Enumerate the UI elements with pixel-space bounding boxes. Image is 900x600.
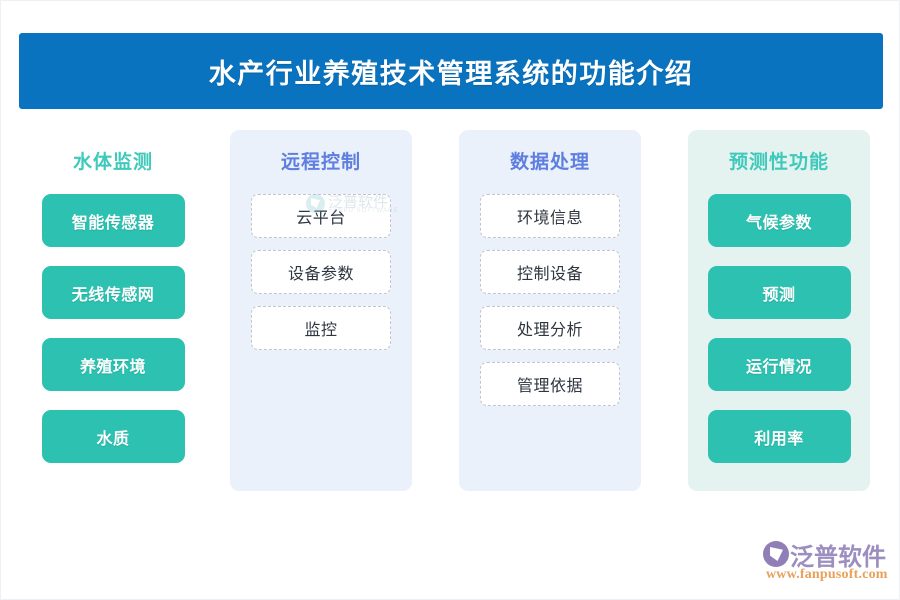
column-heading-remote-control: 远程控制: [230, 147, 412, 174]
card-label: 运行情况: [746, 353, 812, 377]
card-label: 无线传感网: [72, 281, 155, 305]
card-wireless-sensor-network[interactable]: 无线传感网: [42, 266, 185, 319]
card-cloud-platform[interactable]: 云平台: [251, 194, 391, 238]
card-label: 控制设备: [517, 260, 583, 284]
fanpu-logo-icon: [763, 541, 789, 567]
card-device-parameters[interactable]: 设备参数: [251, 250, 391, 294]
column-water-monitoring: 水体监测 智能传感器 无线传感网 养殖环境 水质: [22, 130, 204, 491]
card-intelligent-sensor[interactable]: 智能传感器: [42, 194, 185, 247]
page-root: 水产行业养殖技术管理系统的功能介绍 水体监测 智能传感器 无线传感网 养殖环境 …: [0, 0, 900, 600]
brand-logo: 泛普软件 www.fanpusoft.com: [763, 539, 891, 587]
card-environment-info[interactable]: 环境信息: [480, 194, 620, 238]
card-stack-remote-control: 云平台 设备参数 监控: [230, 194, 412, 362]
card-processing-analysis[interactable]: 处理分析: [480, 306, 620, 350]
card-monitoring[interactable]: 监控: [251, 306, 391, 350]
card-label: 设备参数: [288, 260, 354, 284]
card-label: 云平台: [296, 204, 346, 228]
card-label: 智能传感器: [72, 209, 155, 233]
card-label: 水质: [96, 425, 129, 449]
card-aquaculture-environment[interactable]: 养殖环境: [42, 338, 185, 391]
card-control-equipment[interactable]: 控制设备: [480, 250, 620, 294]
card-utilization-rate[interactable]: 利用率: [708, 410, 851, 463]
page-title-banner: 水产行业养殖技术管理系统的功能介绍: [19, 33, 883, 109]
column-heading-water-monitoring: 水体监测: [22, 147, 204, 174]
card-label: 预测: [762, 281, 795, 305]
card-label: 气候参数: [746, 209, 812, 233]
card-forecast[interactable]: 预测: [708, 266, 851, 319]
column-heading-data-processing: 数据处理: [459, 147, 641, 174]
column-data-processing: 数据处理 环境信息 控制设备 处理分析 管理依据: [459, 130, 641, 491]
card-stack-data-processing: 环境信息 控制设备 处理分析 管理依据: [459, 194, 641, 418]
column-predictive-functions: 预测性功能 气候参数 预测 运行情况 利用率: [688, 130, 870, 491]
card-climate-parameters[interactable]: 气候参数: [708, 194, 851, 247]
brand-website-url: www.fanpusoft.com: [766, 567, 888, 583]
column-heading-predictive-functions: 预测性功能: [688, 147, 870, 174]
card-water-quality[interactable]: 水质: [42, 410, 185, 463]
card-label: 管理依据: [517, 372, 583, 396]
card-stack-water-monitoring: 智能传感器 无线传感网 养殖环境 水质: [22, 194, 204, 482]
page-title: 水产行业养殖技术管理系统的功能介绍: [209, 52, 694, 91]
card-label: 养殖环境: [80, 353, 146, 377]
column-remote-control: 远程控制 云平台 设备参数 监控: [230, 130, 412, 491]
card-stack-predictive-functions: 气候参数 预测 运行情况 利用率: [688, 194, 870, 482]
card-label: 利用率: [754, 425, 804, 449]
card-management-basis[interactable]: 管理依据: [480, 362, 620, 406]
card-label: 监控: [304, 316, 337, 340]
card-label: 处理分析: [517, 316, 583, 340]
card-operation-status[interactable]: 运行情况: [708, 338, 851, 391]
card-label: 环境信息: [517, 204, 583, 228]
